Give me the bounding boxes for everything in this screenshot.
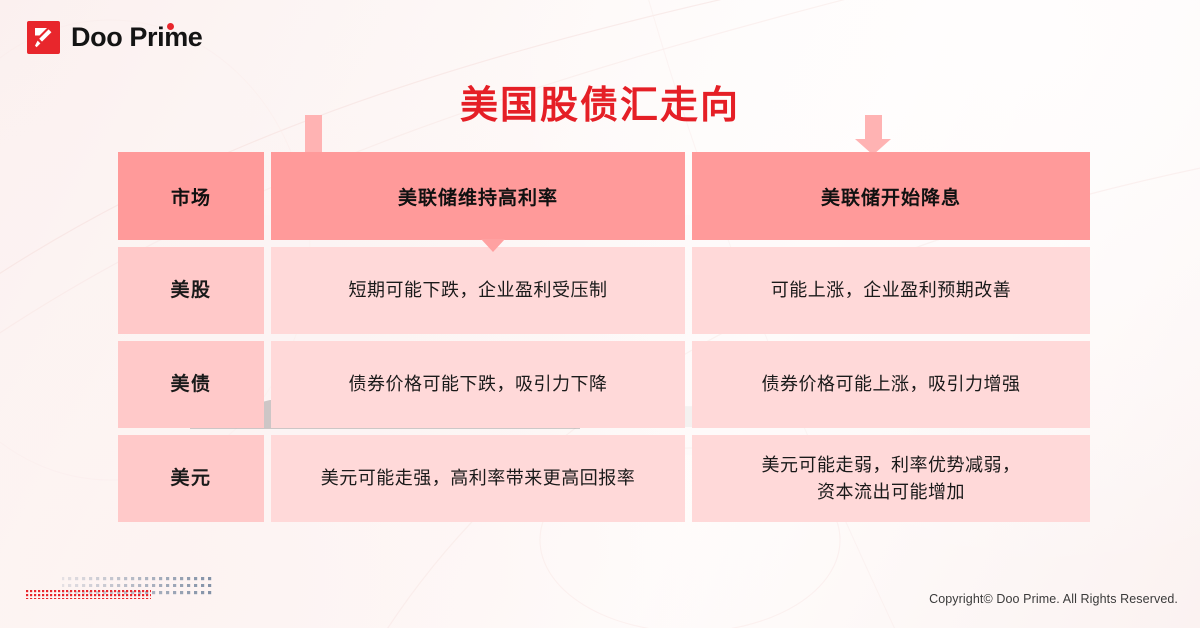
- cell-bonds-cut: 债券价格可能上涨，吸引力增强: [692, 341, 1090, 428]
- header-cell-high-rate: 美联储维持高利率: [271, 152, 685, 240]
- page-title: 美国股债汇走向: [0, 74, 1200, 129]
- row-label-bonds: 美债: [118, 341, 264, 428]
- table-row: 美元 美元可能走强，高利率带来更高回报率 美元可能走弱，利率优势减弱，资本流出可…: [118, 435, 1083, 522]
- brand-name: Doo Prime: [71, 22, 202, 53]
- cell-dollar-high: 美元可能走强，高利率带来更高回报率: [271, 435, 685, 522]
- halftone-dot-pattern-icon: [26, 570, 246, 612]
- comparison-table: 市场 美联储维持高利率 美联储开始降息 美股 短期可能下跌，企业盈利受压制 可能…: [118, 152, 1083, 522]
- logo-accent-dot-icon: [167, 23, 174, 30]
- table-header-row: 市场 美联储维持高利率 美联储开始降息: [118, 152, 1083, 240]
- row-label-dollar: 美元: [118, 435, 264, 522]
- copyright-text: Copyright© Doo Prime. All Rights Reserve…: [929, 592, 1178, 606]
- doo-prime-flag-logo-icon: [27, 21, 60, 54]
- header-cell-rate-cut: 美联储开始降息: [692, 152, 1090, 240]
- table-row: 美股 短期可能下跌，企业盈利受压制 可能上涨，企业盈利预期改善: [118, 247, 1083, 334]
- cell-stocks-cut: 可能上涨，企业盈利预期改善: [692, 247, 1090, 334]
- cell-bonds-high: 债券价格可能下跌，吸引力下降: [271, 341, 685, 428]
- cell-dollar-cut: 美元可能走弱，利率优势减弱，资本流出可能增加: [692, 435, 1090, 522]
- brand-logo[interactable]: Doo Prime: [27, 21, 202, 54]
- cell-stocks-high: 短期可能下跌，企业盈利受压制: [271, 247, 685, 334]
- slide-canvas: Doo Prime 美国股债汇走向 市场 美联储维持高利率 美联储开始降息 美股…: [0, 0, 1200, 628]
- table-row: 美债 债券价格可能下跌，吸引力下降 债券价格可能上涨，吸引力增强: [118, 341, 1083, 428]
- header-cell-market: 市场: [118, 152, 264, 240]
- row-label-stocks: 美股: [118, 247, 264, 334]
